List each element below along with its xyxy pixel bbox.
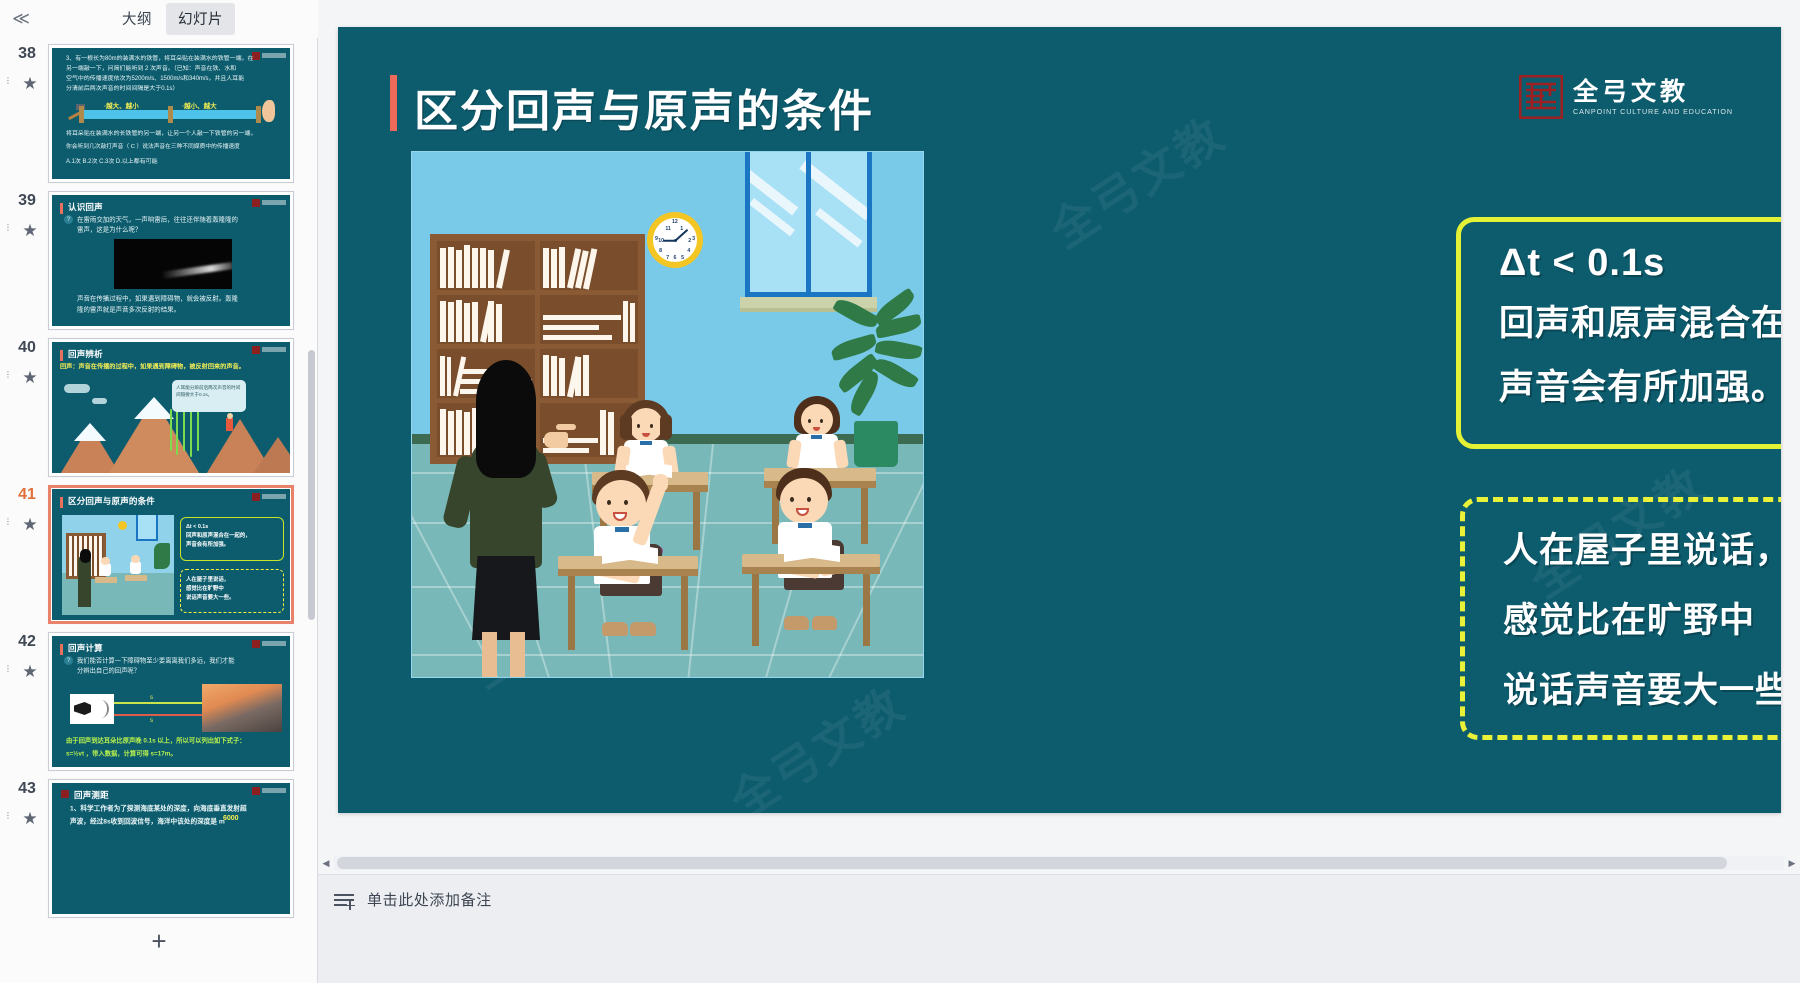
thumb-box-dashed: 人在屋子里说话， 感觉比在旷野中 说话声音要大一些。 <box>180 569 284 613</box>
thumb-text-line: 你会听到几次敲打声音（ C ）说法声音在三种不同媒质中的传播速度 <box>66 143 240 151</box>
thumb-text-line: 回声：声音在传播的过程中，如果遇到障碍物，被反射回来的声音。 <box>60 363 245 371</box>
slide-number: 39 <box>10 191 44 211</box>
powerpoint-editor-window: ≪ 大纲 幻灯片 38 ⋮★ <box>0 0 1800 983</box>
slide-number: 38 <box>10 44 44 64</box>
animation-dots-icon: ⋮ <box>4 78 12 83</box>
thumb-title: 回声计算 <box>68 642 103 654</box>
question-mark-icon: ? <box>64 656 73 665</box>
add-slide-button[interactable]: + <box>0 920 318 948</box>
logo-seal-icon <box>1519 75 1563 119</box>
notes-placeholder[interactable]: 单击此处添加备注 <box>367 889 492 910</box>
thumb-box-line: 声音会有所加强。 <box>181 541 283 550</box>
thumb-label: s <box>150 694 153 704</box>
thumb-title: 区分回声与原声的条件 <box>68 495 155 507</box>
slide-number: 42 <box>10 632 44 652</box>
thumbnail-canvas: 3、有一根长为80m的装满水的铁管，将耳朵贴在装满水的铁管一端，在 另一端敲一下… <box>52 48 290 179</box>
list-item[interactable]: 42 ⋮★ 回声计算 ? 我们能否计算一下障碍物至少要离离我们多远，我们才能 <box>0 626 318 773</box>
scroll-right-icon[interactable]: ▶ <box>1784 852 1800 874</box>
list-item[interactable]: 43 ⋮★ 回声测距 1、科学工作者为了探测海底某处的深度，向海底垂直发射超 声… <box>0 773 318 920</box>
slide-horizontal-scrollbar[interactable]: ◀ ▶ <box>318 852 1800 874</box>
logo-text-block: 全弓文教 CANPOINT CULTURE AND EDUCATION <box>1573 79 1733 116</box>
thumb-box-line: 回声和原声混合在一起的， <box>181 532 283 541</box>
animation-star-icon: ⋮★ <box>13 223 47 239</box>
brand-logo: 全弓文教 CANPOINT CULTURE AND EDUCATION <box>1519 75 1733 119</box>
iron-pipe-graphic <box>82 110 260 119</box>
thumbnail-scroll-region[interactable]: 38 ⋮★ 3、有一根长为80m的装满水的铁管，将耳朵贴在装满水的铁管一端，在 … <box>0 38 318 948</box>
collapse-panel-icon[interactable]: ≪ <box>4 4 38 34</box>
thumb-text-line: 1、科学工作者为了探测海底某处的深度，向海底垂直发射超 <box>70 805 247 814</box>
animation-dots-icon: ⋮ <box>4 372 12 377</box>
title-accent-bar <box>60 644 63 655</box>
thumb-text-line: 分辨出自己的回声呢？ <box>77 667 140 676</box>
thumbnail-canvas: 回声辨析 回声：声音在传播的过程中，如果遇到障碍物，被反射回来的声音。 <box>52 342 290 473</box>
title-accent-bar <box>390 75 397 131</box>
thumbnail-canvas: 回声计算 ? 我们能否计算一下障碍物至少要离离我们多远，我们才能 分辨出自己的回… <box>52 636 290 767</box>
animation-dots-icon: ⋮ <box>4 225 12 230</box>
thumbnail-meta: 43 ⋮★ <box>10 779 44 827</box>
box1-line-2: 回声和原声混合在一起的， <box>1461 292 1781 356</box>
thumb-text-line: 我们能否计算一下障碍物至少要离离我们多远，我们才能 <box>77 657 235 666</box>
watermark: 全弓文教 <box>716 669 916 813</box>
logo-name-cn: 全弓文教 <box>1573 79 1733 105</box>
box2-line-1: 人在屋子里说话， <box>1465 502 1781 586</box>
thumb-box-line: 感觉比在旷野中 <box>181 585 283 594</box>
thumbnail-canvas: 区分回声与原声的条件 <box>52 489 290 620</box>
scroll-left-icon[interactable]: ◀ <box>318 852 334 874</box>
thumbnail-frame[interactable]: 3、有一根长为80m的装满水的铁管，将耳朵贴在装满水的铁管一端，在 另一端敲一下… <box>48 44 294 183</box>
flower-pot <box>854 421 898 467</box>
megaphone-image <box>70 694 114 724</box>
classroom-illustration[interactable]: 12 3 6 9 1 2 4 5 7 8 10 11 <box>411 151 924 678</box>
bubble-text: 人耳能分辨前后两次声音的时间间隔要大于0.1s。 <box>172 380 246 398</box>
thumb-text-line: 另一端敲一下，问简们能听到 2 次声音。（已知：声音在铁、水和 <box>66 65 236 73</box>
thumb-text-line: 分清前后两次声音的时间间隔是大于0.1s） <box>66 85 178 93</box>
thumb-text-line: s=½vt ，带入数据，计算可得 s=17m。 <box>66 750 177 759</box>
slide-number: 40 <box>10 338 44 358</box>
slide-navigator-panel: ≪ 大纲 幻灯片 38 ⋮★ <box>0 0 318 983</box>
list-item[interactable]: 38 ⋮★ 3、有一根长为80m的装满水的铁管，将耳朵贴在装满水的铁管一端，在 … <box>0 38 318 185</box>
thumb-title: 回声测距 <box>74 789 109 801</box>
thumbnail-frame[interactable]: 认识回声 ? 在雷雨交加的天气，一声响雷后，往往还伴随着轰隆隆的 雷声，这是为什… <box>48 191 294 330</box>
animation-star-icon: ⋮★ <box>13 76 47 92</box>
tab-slides[interactable]: 幻灯片 <box>166 3 235 35</box>
condition-box-solid[interactable]: Δt < 0.1s 回声和原声混合在一起的， 声音会有所加强。 <box>1456 217 1781 449</box>
thumbnail-list: 38 ⋮★ 3、有一根长为80m的装满水的铁管，将耳朵贴在装满水的铁管一端，在 … <box>0 38 318 948</box>
animation-star-icon: ⋮★ <box>13 664 47 680</box>
thumb-answer: 6000 <box>223 814 239 824</box>
current-slide[interactable]: 全弓文教 全弓文教 全弓文教 全弓文教 区分回声与原声的条件 全弓文教 <box>338 27 1781 813</box>
distance-line <box>114 714 202 716</box>
thumb-title: 回声辨析 <box>68 348 103 360</box>
scrollbar-thumb[interactable] <box>308 350 315 620</box>
page-title[interactable]: 区分回声与原声的条件 <box>414 75 874 139</box>
animation-dots-icon: ⋮ <box>4 813 12 818</box>
classroom-window <box>745 152 872 297</box>
title-accent-bar <box>60 350 63 361</box>
thumb-text-line: 在雷雨交加的天气，一声响雷后，往往还伴随着轰隆隆的 <box>77 216 238 225</box>
thumb-text-line: 由于回声到达耳朵比原声晚 0.1s 以上，所以可以列出如下式子： <box>66 737 246 746</box>
thumb-text-line: 隆的雷声就是声音多次反射的结果。 <box>77 306 180 315</box>
title-accent-bar <box>60 203 63 214</box>
logo-watermark-icon <box>252 786 286 795</box>
mountain-scene: 人耳能分辨前后两次声音的时间间隔要大于0.1s。 <box>52 376 290 473</box>
thumbnail-frame[interactable]: 回声计算 ? 我们能否计算一下障碍物至少要离离我们多远，我们才能 分辨出自己的回… <box>48 632 294 771</box>
thumbnail-frame[interactable]: 回声辨析 回声：声音在传播的过程中，如果遇到障碍物，被反射回来的声音。 <box>48 338 294 477</box>
slide-canvas-region[interactable]: 全弓文教 全弓文教 全弓文教 全弓文教 区分回声与原声的条件 全弓文教 <box>318 0 1800 852</box>
logo-watermark-icon <box>252 492 286 501</box>
bullet-square-icon <box>61 790 69 798</box>
logo-watermark-icon <box>252 198 286 207</box>
box2-line-3: 说话声音要大一些。 <box>1465 656 1781 726</box>
list-item-selected[interactable]: 41 ⋮★ 区分回声与原声的条件 <box>0 479 318 626</box>
logo-watermark-icon <box>252 51 286 60</box>
navigator-tabs: 大纲 幻灯片 <box>110 3 235 35</box>
thumb-title: 认识回声 <box>68 201 103 213</box>
navigator-vertical-scrollbar[interactable] <box>307 40 316 946</box>
thumb-box-solid: Δt < 0.1s 回声和原声混合在一起的， 声音会有所加强。 <box>180 517 284 561</box>
clock-face: 12 3 6 9 1 2 4 5 7 8 10 11 <box>653 218 697 262</box>
condition-box-dashed[interactable]: 人在屋子里说话， 感觉比在旷野中 说话声音要大一些。 <box>1460 497 1781 740</box>
box1-line-3: 声音会有所加强。 <box>1461 356 1781 420</box>
thumbnail-meta: 40 ⋮★ <box>10 338 44 386</box>
navigator-toolbar: ≪ 大纲 幻灯片 <box>0 0 318 38</box>
thumbnail-meta: 38 ⋮★ <box>10 44 44 92</box>
list-item[interactable]: 39 ⋮★ 认识回声 ? 在雷雨交加的天气，一声响雷后，往往还伴随着轰隆隆的 <box>0 185 318 332</box>
thumb-text-line: A.1次 B.2次 C.3次 D.以上都有可能 <box>66 158 158 166</box>
thumb-label: s <box>150 717 153 727</box>
thumb-text-line: 3、有一根长为80m的装满水的铁管，将耳朵贴在装满水的铁管一端，在 <box>66 55 253 63</box>
thumb-text-line: 空气中的传播速度依次为5200m/s、1500m/s和340m/s，并且人耳能 <box>66 75 244 83</box>
tab-outline[interactable]: 大纲 <box>110 3 164 35</box>
slide-number: 41 <box>10 485 44 505</box>
question-mark-icon: ? <box>64 215 73 224</box>
teacher-figure <box>452 360 572 678</box>
wall-clock-icon: 12 3 6 9 1 2 4 5 7 8 10 11 <box>647 212 703 268</box>
speech-bubble: 人耳能分辨前后两次声音的时间间隔要大于0.1s。 <box>172 380 246 412</box>
animation-dots-icon: ⋮ <box>4 519 12 524</box>
watermark: 全弓文教 <box>1036 99 1236 261</box>
box1-line-1: Δt < 0.1s <box>1461 222 1781 292</box>
notes-pane[interactable]: 单击此处添加备注 <box>318 874 1800 983</box>
thumb-text-line: 声波，经过8s收到回波信号，海洋中该处的深度是 m <box>70 818 225 827</box>
thumb-label: ·越小、越大 <box>182 100 217 110</box>
thumbnail-meta: 41 ⋮★ <box>10 485 44 533</box>
cliff-photo <box>202 684 282 732</box>
classroom-thumb-image <box>62 515 174 615</box>
scrollbar-track[interactable] <box>334 856 1784 870</box>
logo-watermark-icon <box>252 345 286 354</box>
thumbnail-frame-selected[interactable]: 区分回声与原声的条件 <box>48 485 294 624</box>
animation-star-icon: ⋮★ <box>13 370 47 386</box>
student-desk <box>558 556 698 652</box>
distance-line <box>114 702 202 704</box>
logo-name-en: CANPOINT CULTURE AND EDUCATION <box>1573 107 1733 116</box>
animation-dots-icon: ⋮ <box>4 666 12 671</box>
thumb-text-line: 声音在传播过程中，如果遇到障碍物，就会被反射。轰隆 <box>77 295 238 304</box>
ear-icon <box>262 100 275 122</box>
thumbnail-canvas: 回声测距 1、科学工作者为了探测海底某处的深度，向海底垂直发射超 声波，经过8s… <box>52 783 290 914</box>
animation-star-icon: ⋮★ <box>13 517 47 533</box>
editor-area: 全弓文教 全弓文教 全弓文教 全弓文教 区分回声与原声的条件 全弓文教 <box>318 0 1800 983</box>
thumb-label: ·越大、越小 <box>104 100 139 110</box>
notes-add-icon <box>334 892 356 908</box>
thumb-box-line: 说话声音要大一些。 <box>181 594 283 603</box>
logo-watermark-icon <box>252 639 286 648</box>
box2-line-2: 感觉比在旷野中 <box>1465 586 1781 656</box>
lightning-photo <box>114 239 232 289</box>
thumbnail-meta: 39 ⋮★ <box>10 191 44 239</box>
student-desk <box>742 554 880 648</box>
thumb-box-line: Δt < 0.1s <box>181 518 283 532</box>
thumb-box-line: 人在屋子里说话， <box>181 570 283 585</box>
scrollbar-thumb[interactable] <box>337 857 1727 869</box>
thumb-text-line: 雷声，这是为什么呢？ <box>77 226 141 235</box>
animation-star-icon: ⋮★ <box>13 811 47 827</box>
thumbnail-meta: 42 ⋮★ <box>10 632 44 680</box>
slide-number: 43 <box>10 779 44 799</box>
thumbnail-canvas: 认识回声 ? 在雷雨交加的天气，一声响雷后，往往还伴随着轰隆隆的 雷声，这是为什… <box>52 195 290 326</box>
title-accent-bar <box>60 497 63 508</box>
thumb-text-line: 将耳朵贴在装满水的长铁管的另一端，让另一个人敲一下铁管的另一端， <box>66 130 256 138</box>
thumbnail-frame[interactable]: 回声测距 1、科学工作者为了探测海底某处的深度，向海底垂直发射超 声波，经过8s… <box>48 779 294 918</box>
list-item[interactable]: 40 ⋮★ 回声辨析 回声：声音在传播的过程中，如果遇到障碍物，被反射回来的声音… <box>0 332 318 479</box>
